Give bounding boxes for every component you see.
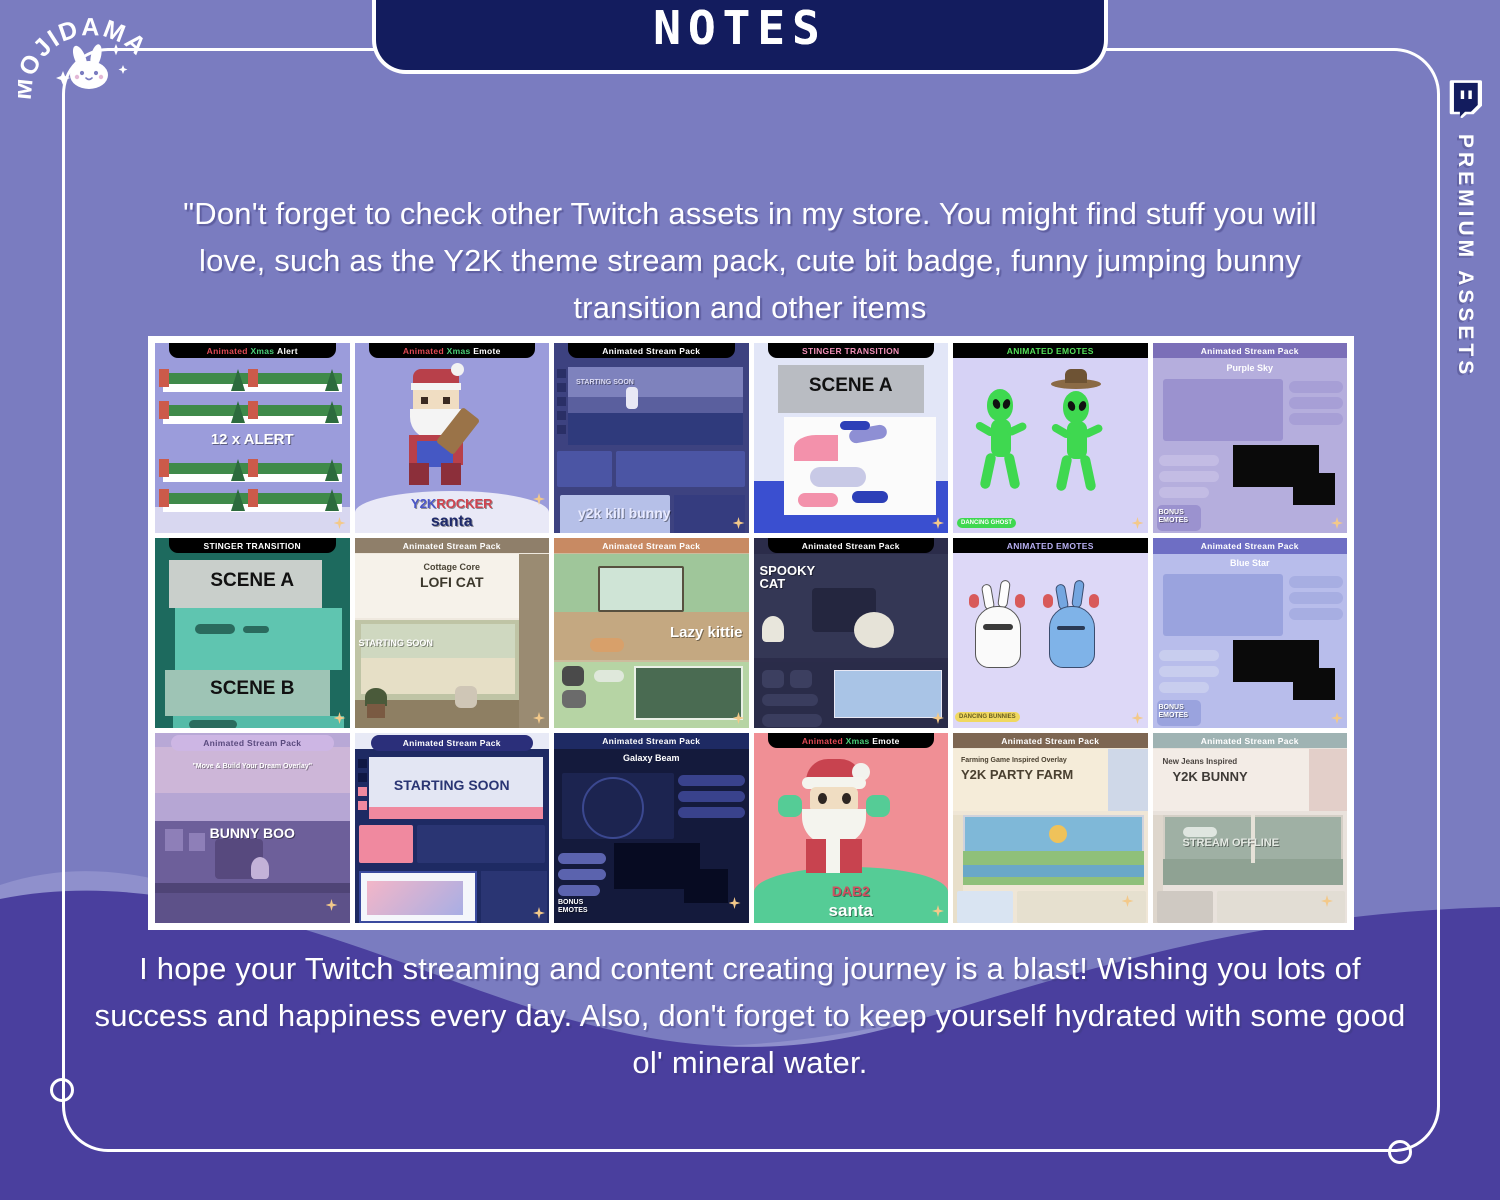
rail-label: PREMIUM ASSETS xyxy=(1453,134,1477,378)
header-banner: NOTES xyxy=(372,0,1108,74)
thumb-title-bar: Animated Stream Pack xyxy=(371,735,534,751)
gallery-item[interactable]: Animated Stream Pack New Jeans Inspired … xyxy=(1153,733,1348,923)
gallery-item[interactable]: Animated Xmas Emote Y2KROCKER santa xyxy=(355,343,550,533)
gallery-item[interactable]: Animated Stream Pack STARTING SOON xyxy=(355,733,550,923)
top-note-text: "Don't forget to check other Twitch asse… xyxy=(0,190,1500,331)
thumb-caption-line2: santa xyxy=(829,901,873,921)
frame-dot-bottom xyxy=(1388,1140,1412,1164)
thumb-title-bar: Animated Stream Pack xyxy=(171,735,334,751)
gallery-item[interactable]: Animated Stream Pack "Move & Build Your … xyxy=(155,733,350,923)
thumb-caption-line1: DAB2 xyxy=(832,883,870,899)
thumb-subtitle: Galaxy Beam xyxy=(554,753,749,763)
gallery-item[interactable]: Animated Stream Pack Purple Sky BONUSEMO… xyxy=(1153,343,1348,533)
thumb-caption: SCENE A xyxy=(809,375,893,397)
gallery-item[interactable]: Animated Xmas Emote DAB2 santa xyxy=(754,733,949,923)
thumb-title-bar: ANIMATED EMOTES xyxy=(953,538,1148,553)
thumb-caption: SPOOKYCAT xyxy=(760,564,816,590)
thumb-title-bar: Animated Stream Pack xyxy=(554,733,749,749)
thumb-subtitle: Purple Sky xyxy=(1153,363,1348,373)
thumb-title-bar: Animated Xmas Emote xyxy=(369,343,536,358)
thumb-bonus-label: BONUSEMOTES xyxy=(558,899,600,915)
gallery-item[interactable]: Animated Stream Pack Lazy kittie xyxy=(554,538,749,728)
thumb-title-bar: Animated Stream Pack xyxy=(768,538,935,553)
thumb-caption: y2k kill bunny xyxy=(578,505,671,521)
thumb-caption-line2: santa xyxy=(431,513,473,531)
thumb-title-bar: Animated Xmas Emote xyxy=(768,733,935,748)
thumb-subcaption: Farming Game Inspired Overlay xyxy=(961,757,1067,764)
brand-logo[interactable]: MOJIDAMA xyxy=(18,8,163,113)
thumb-bonus-label: BONUSEMOTES xyxy=(1159,704,1201,720)
thumb-title-bar: ANIMATED EMOTES xyxy=(953,343,1148,358)
thumb-badge: DANCING GHOST xyxy=(957,518,1016,528)
thumb-caption: Lazy kittie xyxy=(670,624,743,641)
thumb-title-bar: Animated Stream Pack xyxy=(1153,538,1348,554)
asset-gallery: Animated Xmas Alert 12 x ALERT xyxy=(148,336,1354,930)
thumb-caption: LOFI CAT xyxy=(420,574,484,590)
gallery-item[interactable]: ANIMATED EMOTES DANCING GHOST xyxy=(953,343,1148,533)
bottom-note-text: I hope your Twitch streaming and content… xyxy=(0,945,1500,1086)
thumb-status: STARTING SOON xyxy=(359,638,433,648)
thumb-title-bar: STINGER TRANSITION xyxy=(768,343,935,358)
thumb-title-bar: Animated Xmas Alert xyxy=(169,343,336,358)
thumb-subcaption: Cottage Core xyxy=(423,562,480,572)
notes-page: MOJIDAMA NOTES xyxy=(0,0,1500,1200)
page-title: NOTES xyxy=(653,5,826,51)
gallery-item[interactable]: STINGER TRANSITION SCENE A xyxy=(754,343,949,533)
gallery-item[interactable]: Animated Stream Pack STARTING SOON y2k k… xyxy=(554,343,749,533)
twitch-glitch-icon[interactable] xyxy=(1448,80,1482,118)
thumb-title-bar: Animated Stream Pack xyxy=(1153,733,1348,748)
thumb-caption: Y2K BUNNY xyxy=(1173,769,1248,784)
gallery-item[interactable]: Animated Stream Pack Galaxy Beam BONUSEM… xyxy=(554,733,749,923)
thumb-status: STREAM OFFLINE xyxy=(1183,837,1280,849)
gallery-item[interactable]: Animated Xmas Alert 12 x ALERT xyxy=(155,343,350,533)
thumb-title-bar: Animated Stream Pack xyxy=(554,538,749,553)
thumb-subtitle: Blue Star xyxy=(1153,558,1348,568)
thumb-caption: STARTING SOON xyxy=(394,777,510,793)
thumb-subcaption: "Move & Build Your Dream Overlay" xyxy=(192,763,312,770)
gallery-item[interactable]: STINGER TRANSITION SCENE A SCENE B xyxy=(155,538,350,728)
thumb-caption-2: SCENE B xyxy=(210,678,294,700)
thumb-subcaption: New Jeans Inspired xyxy=(1163,757,1238,766)
gallery-item[interactable]: Animated Stream Pack SPOOKYCAT xyxy=(754,538,949,728)
thumb-bonus-label: BONUSEMOTES xyxy=(1159,509,1201,525)
gallery-item[interactable]: Animated Stream Pack Blue Star BONUSEMOT… xyxy=(1153,538,1348,728)
gallery-item[interactable]: Animated Stream Pack Farming Game Inspir… xyxy=(953,733,1148,923)
thumb-title-bar: STINGER TRANSITION xyxy=(169,538,336,553)
gallery-item[interactable]: Animated Stream Pack Cottage Core LOFI C… xyxy=(355,538,550,728)
thumb-title-bar: Animated Stream Pack xyxy=(1153,343,1348,358)
thumb-caption-line1: Y2KROCKER xyxy=(411,496,493,511)
thumb-badge: DANCING BUNNIES xyxy=(955,712,1020,722)
thumb-title-bar: Animated Stream Pack xyxy=(953,733,1148,748)
thumb-title-bar: Animated Stream Pack xyxy=(355,538,550,553)
thumb-title-bar: Animated Stream Pack xyxy=(568,343,735,358)
thumb-caption: 12 x ALERT xyxy=(211,431,294,448)
gallery-item[interactable]: ANIMATED EMOTES DANCING BUNNIES xyxy=(953,538,1148,728)
premium-assets-rail: PREMIUM ASSETS xyxy=(1430,80,1500,500)
thumb-subcaption: STARTING SOON xyxy=(576,379,634,386)
thumb-caption: SCENE A xyxy=(210,570,294,592)
thumb-caption: Y2K PARTY FARM xyxy=(961,767,1073,782)
thumb-caption: BUNNY BOO xyxy=(210,825,295,841)
bunny-mascot-icon: MOJIDAMA xyxy=(18,8,163,113)
